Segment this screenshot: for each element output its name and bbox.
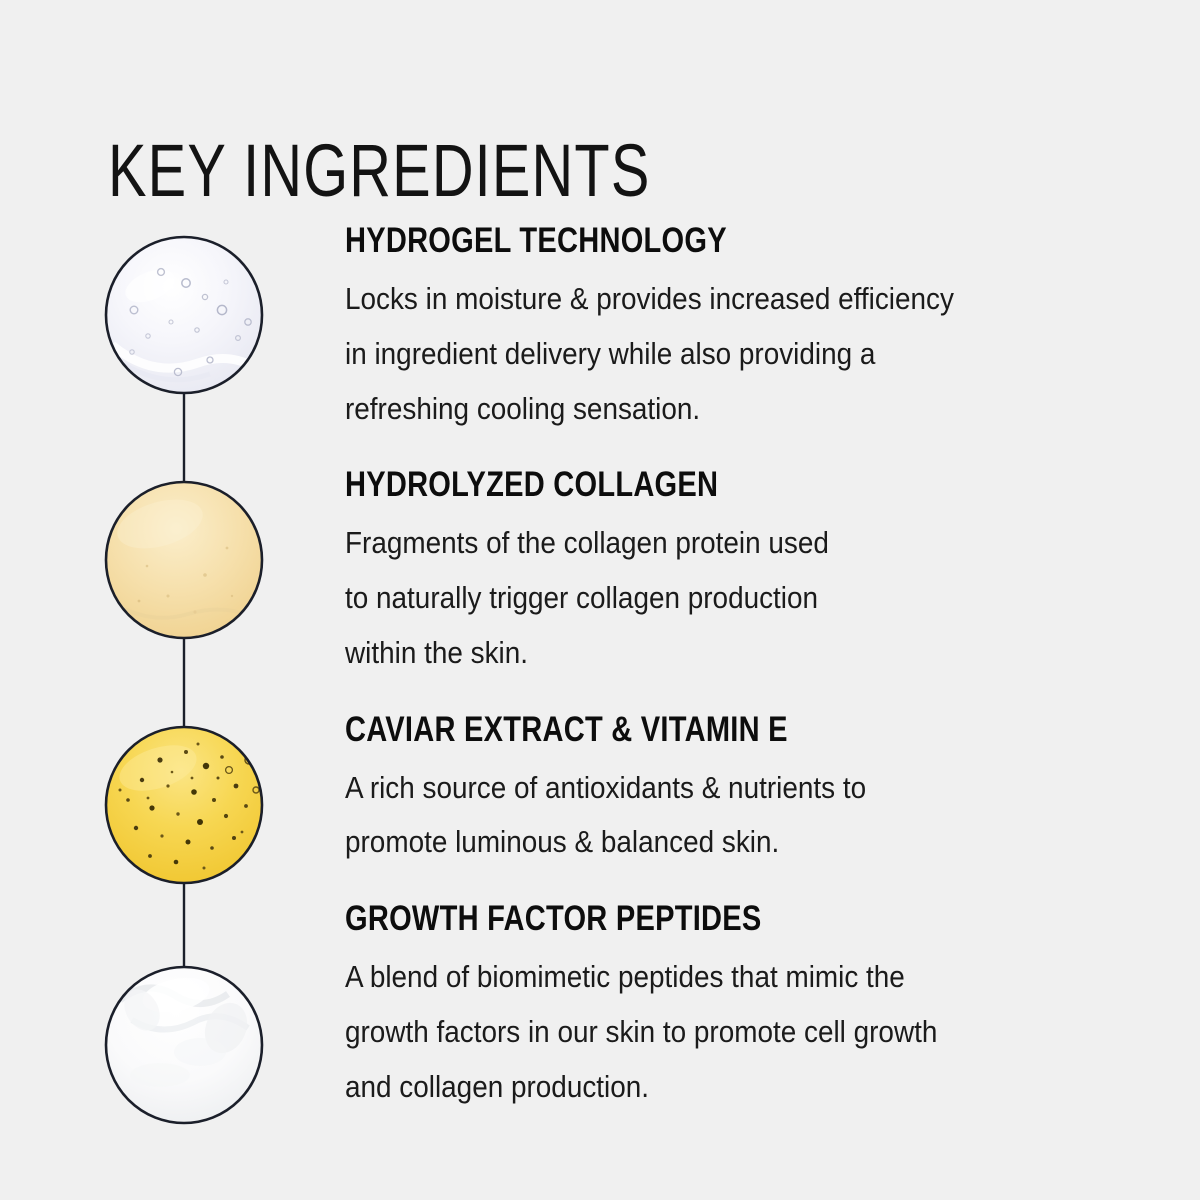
section-heading-caviar: CAVIAR EXTRACT & VITAMIN E	[345, 711, 984, 749]
body-line: Locks in moisture & provides increased e…	[345, 272, 1114, 327]
ingredient-section-caviar: CAVIAR EXTRACT & VITAMIN E A rich source…	[345, 711, 1115, 871]
body-line: growth factors in our skin to promote ce…	[345, 1005, 1114, 1060]
section-heading-hydrogel: HYDROGEL TECHNOLOGY	[345, 222, 984, 260]
body-line: in ingredient delivery while also provid…	[345, 327, 1114, 382]
ingredient-section-collagen: HYDROLYZED COLLAGEN Fragments of the col…	[345, 466, 1115, 680]
section-body-caviar: A rich source of antioxidants & nutrient…	[345, 761, 1114, 871]
body-line: and collagen production.	[345, 1060, 1114, 1115]
body-line: A blend of biomimetic peptides that mimi…	[345, 950, 1114, 1005]
section-heading-collagen: HYDROLYZED COLLAGEN	[345, 466, 984, 504]
hydrogel-swatch	[106, 237, 262, 393]
body-line: Fragments of the collagen protein used	[345, 516, 1114, 571]
caviar-swatch	[106, 727, 262, 883]
body-line: to naturally trigger collagen production	[345, 571, 1114, 626]
page-title: KEY INGREDIENTS	[108, 134, 651, 208]
section-body-hydrogel: Locks in moisture & provides increased e…	[345, 272, 1114, 437]
body-line: promote luminous & balanced skin.	[345, 815, 1114, 870]
section-body-peptides: A blend of biomimetic peptides that mimi…	[345, 950, 1114, 1115]
body-line: refreshing cooling sensation.	[345, 382, 1114, 437]
ingredient-section-hydrogel: HYDROGEL TECHNOLOGY Locks in moisture & …	[345, 222, 1115, 436]
section-body-collagen: Fragments of the collagen protein used t…	[345, 516, 1114, 681]
ingredient-section-peptides: GROWTH FACTOR PEPTIDES A blend of biomim…	[345, 900, 1115, 1114]
infographic-page: KEY INGREDIENTS	[0, 0, 1200, 1200]
body-line: within the skin.	[345, 626, 1114, 681]
body-line: A rich source of antioxidants & nutrient…	[345, 761, 1114, 816]
section-heading-peptides: GROWTH FACTOR PEPTIDES	[345, 900, 984, 938]
peptide-swatch	[106, 967, 262, 1123]
ingredient-sections: HYDROGEL TECHNOLOGY Locks in moisture & …	[345, 222, 1115, 1115]
collagen-swatch	[106, 482, 262, 638]
